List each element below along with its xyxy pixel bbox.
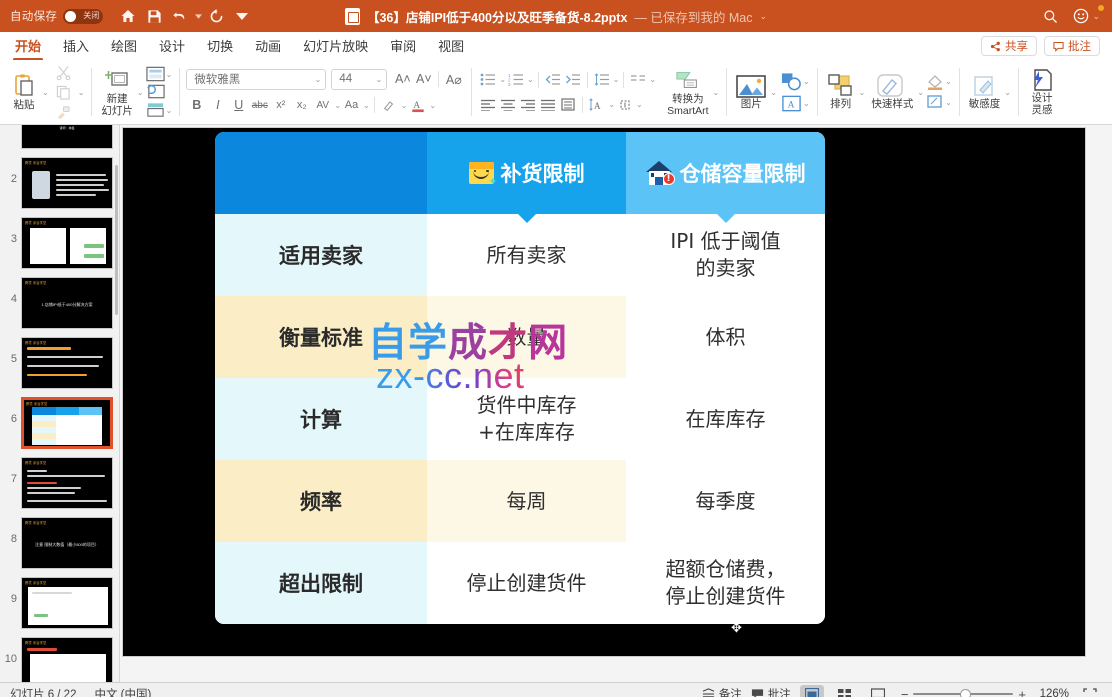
distribute-text-icon[interactable]: [558, 95, 578, 114]
tab-view[interactable]: 视图: [427, 33, 475, 60]
svg-text:A: A: [594, 101, 601, 111]
smiley-icon: [1073, 8, 1089, 24]
thumbnail-item-3[interactable]: 3 跨境 米谷学堂: [0, 217, 119, 269]
slide-stage: ✦ 补货限制 !: [120, 125, 1112, 682]
slide-counter: 幻灯片 6 / 22: [10, 686, 76, 697]
picture-icon: [736, 74, 766, 98]
divider: [582, 97, 583, 113]
shape-fill-caret-icon[interactable]: ⌄: [945, 77, 952, 86]
new-slide-label-line1: 新建: [107, 94, 128, 105]
thumbnail-tag: 跨境 米谷学堂: [25, 460, 46, 465]
comments-status-button[interactable]: 批注: [751, 686, 791, 697]
thumbnail-number: 7: [2, 457, 17, 485]
quick-styles-caret-icon[interactable]: ⌄: [917, 88, 924, 97]
smartart-label-line2: SmartArt: [667, 106, 708, 117]
decrease-font-size-icon[interactable]: A˅: [413, 69, 434, 90]
textbox-caret-icon[interactable]: ⌄: [803, 99, 810, 108]
clipboard-more-caret-icon[interactable]: ⌄: [78, 88, 85, 97]
decrease-indent-icon[interactable]: [543, 70, 563, 89]
thumbnail-preview[interactable]: 跨境 米谷学堂: [21, 577, 113, 629]
zoom-slider-knob[interactable]: [960, 689, 971, 697]
stage-background: [1088, 125, 1112, 682]
header-label-replenishment: 补货限制: [501, 158, 585, 188]
layout-button[interactable]: ⌄: [146, 66, 173, 82]
document-title[interactable]: 【36】店铺IPI低于400分以及旺季备货-8.2pptx: [367, 7, 627, 26]
underline-button[interactable]: U: [228, 95, 249, 116]
comparison-table[interactable]: ✦ 补货限制 !: [215, 132, 825, 624]
autosave-state-label: 关闭: [83, 10, 99, 21]
font-color-icon[interactable]: A: [407, 95, 428, 116]
notification-dot-icon: [1098, 5, 1104, 11]
status-bar-left: 幻灯片 6 / 22 中文 (中国): [10, 686, 151, 697]
zoom-control[interactable]: − +: [901, 687, 1026, 697]
picture-label: 图片: [741, 99, 762, 110]
row-value-col1: 货件中库存 +在库库存: [477, 392, 577, 446]
home-icon[interactable]: [115, 3, 141, 29]
cut-icon[interactable]: [51, 63, 77, 82]
thumbnail-item-9[interactable]: 9 跨境 米谷学堂: [0, 577, 119, 629]
row-value-col2: 在库库存: [686, 406, 766, 433]
divider: [587, 72, 588, 88]
align-text-icon[interactable]: [615, 95, 635, 114]
smartart-caret-icon[interactable]: ⌄: [713, 88, 720, 97]
section-button[interactable]: ⌄: [146, 102, 173, 118]
undo-dropdown-caret-icon[interactable]: [193, 3, 203, 29]
shapes-button[interactable]: ⌄: [781, 72, 810, 92]
copy-icon[interactable]: [51, 83, 77, 102]
increase-indent-icon[interactable]: [563, 70, 583, 89]
notes-label: 备注: [719, 686, 742, 697]
row-value-col1: 停止创建货件: [467, 570, 587, 597]
smartart-icon: [675, 67, 701, 93]
more-options-icon[interactable]: [229, 3, 255, 29]
title-dropdown-caret-icon[interactable]: ⌄: [759, 11, 767, 22]
smartart-label-line1: 转换为: [672, 94, 704, 105]
paste-button[interactable]: 粘贴: [7, 73, 41, 111]
arrange-icon: [827, 74, 855, 98]
font-color-caret-icon[interactable]: ⌄: [429, 101, 436, 110]
autosave-toggle[interactable]: 关闭: [63, 9, 103, 24]
section-icon: [146, 102, 165, 118]
new-slide-label-line2: 幻灯片: [101, 106, 133, 117]
ribbon-group-designer: 设计 灵感: [1018, 60, 1066, 124]
text-direction-icon[interactable]: A: [587, 95, 607, 114]
document-saved-status: — 已保存到我的 Mac: [634, 7, 752, 26]
thumbnail-preview[interactable]: 跨境 米谷学堂: [21, 337, 113, 389]
highlight-caret-icon[interactable]: ⌄: [401, 101, 408, 110]
superscript-button[interactable]: x²: [270, 95, 291, 116]
thumbnail-number: 8: [2, 517, 17, 545]
zoom-slider-track[interactable]: [913, 693, 1013, 696]
slide-sorter-icon: [838, 688, 852, 697]
fit-window-icon: [1083, 688, 1097, 697]
text-direction-caret-icon[interactable]: ⌄: [608, 100, 615, 109]
ribbon-toolbar: 粘贴 ⌄ ⌄ 新建 幻灯片 ⌄ ⌄: [0, 60, 1112, 125]
tab-slideshow[interactable]: 幻灯片放映: [292, 33, 379, 60]
character-spacing-button[interactable]: AV: [312, 95, 333, 116]
columns-caret-icon[interactable]: ⌄: [649, 75, 656, 84]
thumbnail-number: 6: [2, 397, 17, 425]
thumbnail-preview[interactable]: 跨境 米谷学堂: [21, 157, 113, 209]
row-value-col1: 数量: [507, 324, 547, 351]
thumbnail-number: 5: [2, 337, 17, 365]
tab-home[interactable]: 开始: [4, 33, 52, 60]
designer-label-line1: 设计: [1031, 93, 1052, 104]
thumbnail-number: 3: [2, 217, 17, 245]
title-bar: 自动保存 关闭 【36】店铺IPI低于400分以及旺季备货-8.2pptx — …: [0, 0, 1112, 32]
warehouse-alert-icon: !: [646, 161, 673, 185]
character-spacing-caret-icon[interactable]: ⌄: [334, 101, 341, 110]
thumbnail-preview[interactable]: 跨境 米谷学堂: [21, 637, 113, 682]
normal-view-icon: [805, 688, 819, 697]
slide-sorter-button[interactable]: [833, 685, 857, 697]
ribbon-group-font: 微软雅黑 ⌄ 44 ⌄ A˄ A˅ A⌀ B I U abc x² x₂ AV: [179, 60, 471, 124]
thumbnail-preview-selected[interactable]: 跨境 米谷学堂: [21, 397, 113, 449]
slide-thumbnail-panel[interactable]: 1 店铺IPI低于400分以及旺季备货方案 讲师：林笛 2 跨境 米谷学堂: [0, 125, 120, 682]
presenter-view-button[interactable]: [866, 685, 890, 697]
bullet-list-icon[interactable]: [478, 70, 498, 89]
italic-button[interactable]: I: [207, 95, 228, 116]
font-name-value: 微软雅黑: [194, 71, 313, 87]
table-header-row: ✦ 补货限制 !: [215, 132, 825, 214]
table-row: 超出限制 停止创建货件 超额仓储费， 停止创建货件: [215, 542, 825, 624]
row-value-col2: 每季度: [696, 488, 756, 515]
ribbon-group-clipboard: 粘贴 ⌄ ⌄: [0, 60, 91, 124]
thumbnail-tag: 跨境 米谷学堂: [25, 220, 46, 225]
share-button[interactable]: 共享: [981, 36, 1037, 56]
current-slide[interactable]: ✦ 补货限制 !: [123, 128, 1085, 656]
reset-button[interactable]: [146, 84, 173, 100]
thumbnail-preview[interactable]: 跨境 米谷学堂 1.店铺IPI低于400分解决方案: [21, 277, 113, 329]
columns-icon[interactable]: [628, 70, 648, 89]
header-cell-storage: ! 仓储容量限制: [626, 132, 825, 214]
thumbnail-tag: 跨境 米谷学堂: [25, 640, 46, 645]
thumbnail-item-4[interactable]: 4 跨境 米谷学堂 1.店铺IPI低于400分解决方案: [0, 277, 119, 329]
font-size-caret-icon[interactable]: ⌄: [376, 75, 383, 84]
svg-text:3: 3: [508, 82, 511, 86]
paste-dropdown-caret-icon[interactable]: ⌄: [42, 88, 49, 97]
thumbnail-preview[interactable]: 跨境 米谷学堂: [21, 217, 113, 269]
thumbnail-tag: 跨境 米谷学堂: [25, 160, 46, 165]
sensitivity-button[interactable]: 敏感度: [966, 74, 1004, 110]
row-value-col2: IPI 低于阈值 的卖家: [670, 228, 780, 282]
convert-to-smartart-button[interactable]: 转换为 SmartArt: [664, 67, 711, 117]
designer-icon: [1028, 68, 1056, 92]
thumbnail-number: 2: [2, 157, 17, 185]
subscript-button[interactable]: x₂: [291, 95, 312, 116]
thumbnail-item-10[interactable]: 10 跨境 米谷学堂: [0, 637, 119, 682]
normal-view-button[interactable]: [800, 685, 824, 697]
align-right-icon[interactable]: [518, 95, 538, 114]
ribbon-group-slides: 新建 幻灯片 ⌄ ⌄ ⌄: [91, 60, 179, 124]
font-name-select[interactable]: 微软雅黑 ⌄: [186, 69, 326, 90]
clear-formatting-icon[interactable]: A⌀: [443, 69, 464, 90]
main-workspace: 1 店铺IPI低于400分以及旺季备货方案 讲师：林笛 2 跨境 米谷学堂: [0, 125, 1112, 682]
ribbon-tab-bar: 开始 插入 绘图 设计 切换 动画 幻灯片放映 审阅 视图 共享 批注: [0, 32, 1112, 60]
thumbnail-item-6[interactable]: 6 跨境 米谷学堂: [0, 397, 119, 449]
row-label: 计算: [300, 404, 342, 434]
shape-fill-button[interactable]: ⌄: [926, 73, 952, 90]
reset-icon: [146, 84, 165, 100]
shape-outline-caret-icon[interactable]: ⌄: [945, 98, 952, 107]
bullet-caret-icon[interactable]: ⌄: [499, 75, 506, 84]
presenter-view-icon: [871, 688, 885, 697]
thumbnail-item-1[interactable]: 1 店铺IPI低于400分以及旺季备货方案 讲师：林笛: [0, 125, 119, 149]
thumbnail-item-2[interactable]: 2 跨境 米谷学堂: [0, 157, 119, 209]
comments-button[interactable]: 批注: [1044, 36, 1100, 56]
numbered-caret-icon[interactable]: ⌄: [527, 75, 534, 84]
ribbon-group-sensitivity: 敏感度 ⌄: [959, 60, 1018, 124]
thumbnail-item-5[interactable]: 5 跨境 米谷学堂: [0, 337, 119, 389]
change-case-caret-icon[interactable]: ⌄: [363, 101, 370, 110]
notes-button[interactable]: 备注: [702, 686, 742, 697]
tab-design[interactable]: 设计: [148, 33, 196, 60]
shapes-caret-icon[interactable]: ⌄: [803, 77, 810, 86]
table-row: 适用卖家 所有卖家 IPI 低于阈值 的卖家: [215, 214, 825, 296]
picture-button[interactable]: 图片: [733, 74, 769, 110]
divider: [374, 97, 375, 113]
arrange-button[interactable]: 排列: [824, 74, 858, 110]
sensitivity-label: 敏感度: [969, 99, 1001, 110]
row-label: 超出限制: [279, 568, 363, 598]
layout-icon: [146, 66, 165, 82]
paste-label: 粘贴: [14, 100, 35, 111]
tab-review[interactable]: 审阅: [379, 33, 427, 60]
ribbon-right-actions: 共享 批注: [981, 36, 1112, 56]
align-text-caret-icon[interactable]: ⌄: [636, 100, 643, 109]
font-name-caret-icon[interactable]: ⌄: [315, 75, 322, 84]
toggle-knob: [65, 11, 76, 22]
thumbnail-tag: 跨境 米谷学堂: [25, 580, 46, 585]
zoom-in-button[interactable]: +: [1018, 687, 1026, 697]
new-slide-icon: [104, 67, 130, 93]
thumbnail-item-7[interactable]: 7 跨境 米谷学堂: [0, 457, 119, 509]
font-size-value: 44: [339, 73, 374, 85]
increase-font-size-icon[interactable]: A˄: [392, 69, 413, 90]
paste-icon: [11, 73, 37, 99]
quick-styles-label: 快速样式: [871, 99, 913, 110]
thumbnail-tag: 跨境 米谷学堂: [25, 340, 46, 345]
thumbnail-item-8[interactable]: 8 跨境 米谷学堂 注意 限制大数值（最小500的项目）: [0, 517, 119, 569]
bold-button[interactable]: B: [186, 95, 207, 116]
share-icon: [990, 41, 1001, 52]
zoom-percentage[interactable]: 126%: [1035, 688, 1069, 697]
divider: [538, 72, 539, 88]
align-left-icon[interactable]: [478, 95, 498, 114]
picture-caret-icon[interactable]: ⌄: [770, 88, 777, 97]
row-value-col2: 超额仓储费， 停止创建货件: [666, 556, 786, 610]
zoom-out-button[interactable]: −: [901, 687, 909, 697]
thumbnail-preview[interactable]: 跨境 米谷学堂: [21, 457, 113, 509]
line-spacing-icon[interactable]: [592, 70, 612, 89]
tab-animations[interactable]: 动画: [244, 33, 292, 60]
arrange-caret-icon[interactable]: ⌄: [859, 88, 866, 97]
thumbnail-tag: 跨境 米谷学堂: [26, 401, 47, 406]
svg-text:A: A: [788, 99, 795, 110]
notes-icon: [702, 688, 715, 697]
text-box-icon: A: [781, 95, 802, 113]
table-row: 频率 每周 每季度: [215, 460, 825, 542]
line-spacing-caret-icon[interactable]: ⌄: [613, 75, 620, 84]
autosave-label: 自动保存: [10, 8, 57, 24]
sensitivity-caret-icon[interactable]: ⌄: [1004, 88, 1011, 97]
comment-icon: [751, 688, 764, 697]
save-icon[interactable]: [141, 3, 167, 29]
quick-styles-button[interactable]: 快速样式: [868, 74, 916, 110]
header-cell-replenishment: ✦ 补货限制: [427, 132, 626, 214]
new-slide-dropdown-caret-icon[interactable]: ⌄: [137, 88, 144, 97]
row-value-col2: 体积: [706, 324, 746, 351]
designer-button[interactable]: 设计 灵感: [1025, 68, 1059, 116]
numbered-list-icon[interactable]: 123: [506, 70, 526, 89]
header-cell-empty: [215, 132, 427, 214]
thumbnail-scrollbar[interactable]: [114, 125, 119, 682]
thumbnail-tag: 跨境 米谷学堂: [25, 280, 46, 285]
row-value-col1: 每周: [507, 488, 547, 515]
account-feedback-button[interactable]: ⌄: [1073, 8, 1100, 24]
new-slide-button[interactable]: 新建 幻灯片: [98, 67, 136, 117]
ribbon-group-paragraph: ⌄ 123 ⌄ ⌄: [471, 60, 726, 124]
ribbon-group-drawing: 排列 ⌄ 快速样式 ⌄ ⌄ ⌄: [817, 60, 959, 124]
table-row: 计算 货件中库存 +在库库存 在库库存: [215, 378, 825, 460]
comments-label: 批注: [1068, 38, 1091, 54]
arrange-label: 排列: [830, 99, 851, 110]
tab-draw[interactable]: 绘图: [100, 33, 148, 60]
textbox-button[interactable]: A ⌄: [781, 95, 810, 113]
format-painter-icon[interactable]: [51, 103, 77, 122]
thumbnail-number: 9: [2, 577, 17, 605]
tab-insert[interactable]: 插入: [52, 33, 100, 60]
search-icon[interactable]: [1037, 3, 1063, 29]
table-row: 衡量标准 数量 体积: [215, 296, 825, 378]
section-caret-icon[interactable]: ⌄: [166, 106, 173, 115]
layout-caret-icon[interactable]: ⌄: [166, 70, 173, 79]
shape-fill-icon: [926, 73, 944, 90]
language-indicator[interactable]: 中文 (中国): [94, 686, 151, 697]
share-label: 共享: [1005, 38, 1028, 54]
fit-to-window-button[interactable]: [1078, 685, 1102, 697]
shape-outline-icon: [926, 94, 944, 111]
row-label: 频率: [300, 486, 342, 516]
mouse-cursor-icon: ✥: [731, 620, 744, 635]
redo-icon[interactable]: [203, 3, 229, 29]
thumbnail-tag: 跨境 米谷学堂: [25, 520, 46, 525]
thumbnail-number: 10: [2, 637, 17, 665]
quick-styles-icon: [877, 74, 907, 98]
shape-outline-button[interactable]: ⌄: [926, 94, 952, 111]
row-label: 衡量标准: [279, 322, 363, 352]
strikethrough-button[interactable]: abc: [249, 95, 270, 116]
package-icon: ✦: [469, 162, 494, 184]
designer-label-line2: 灵感: [1031, 105, 1052, 116]
text-highlight-icon[interactable]: [379, 95, 400, 116]
comments-status-label: 批注: [768, 686, 791, 697]
tab-transitions[interactable]: 切换: [196, 33, 244, 60]
thumbnail-number: 4: [2, 277, 17, 305]
status-bar: 幻灯片 6 / 22 中文 (中国) 备注 批注 − + 126%: [0, 682, 1112, 697]
row-value-col1: 所有卖家: [487, 242, 567, 269]
thumbnail-preview[interactable]: 店铺IPI低于400分以及旺季备货方案 讲师：林笛: [21, 125, 113, 149]
ribbon-group-insert: 图片 ⌄ ⌄ A ⌄: [726, 60, 816, 124]
comment-bubble-icon: [1053, 41, 1064, 52]
title-bar-right-controls: ⌄: [1037, 3, 1112, 29]
status-bar-right: 备注 批注 − + 126%: [702, 685, 1102, 697]
justify-icon[interactable]: [538, 95, 558, 114]
undo-icon[interactable]: [167, 3, 193, 29]
divider: [623, 72, 624, 88]
divider: [438, 71, 439, 87]
header-label-storage: 仓储容量限制: [680, 158, 806, 188]
title-bar-left-controls: 自动保存 关闭: [0, 3, 255, 29]
align-center-icon[interactable]: [498, 95, 518, 114]
shapes-icon: [781, 72, 802, 92]
sensitivity-icon: [971, 74, 999, 98]
row-label: 适用卖家: [279, 240, 363, 270]
thumbnail-preview[interactable]: 跨境 米谷学堂 注意 限制大数值（最小500的项目）: [21, 517, 113, 569]
font-size-select[interactable]: 44 ⌄: [331, 69, 387, 90]
powerpoint-file-icon: [345, 8, 360, 25]
change-case-button[interactable]: Aa: [341, 95, 362, 116]
account-dropdown-caret-icon[interactable]: ⌄: [1092, 11, 1100, 22]
